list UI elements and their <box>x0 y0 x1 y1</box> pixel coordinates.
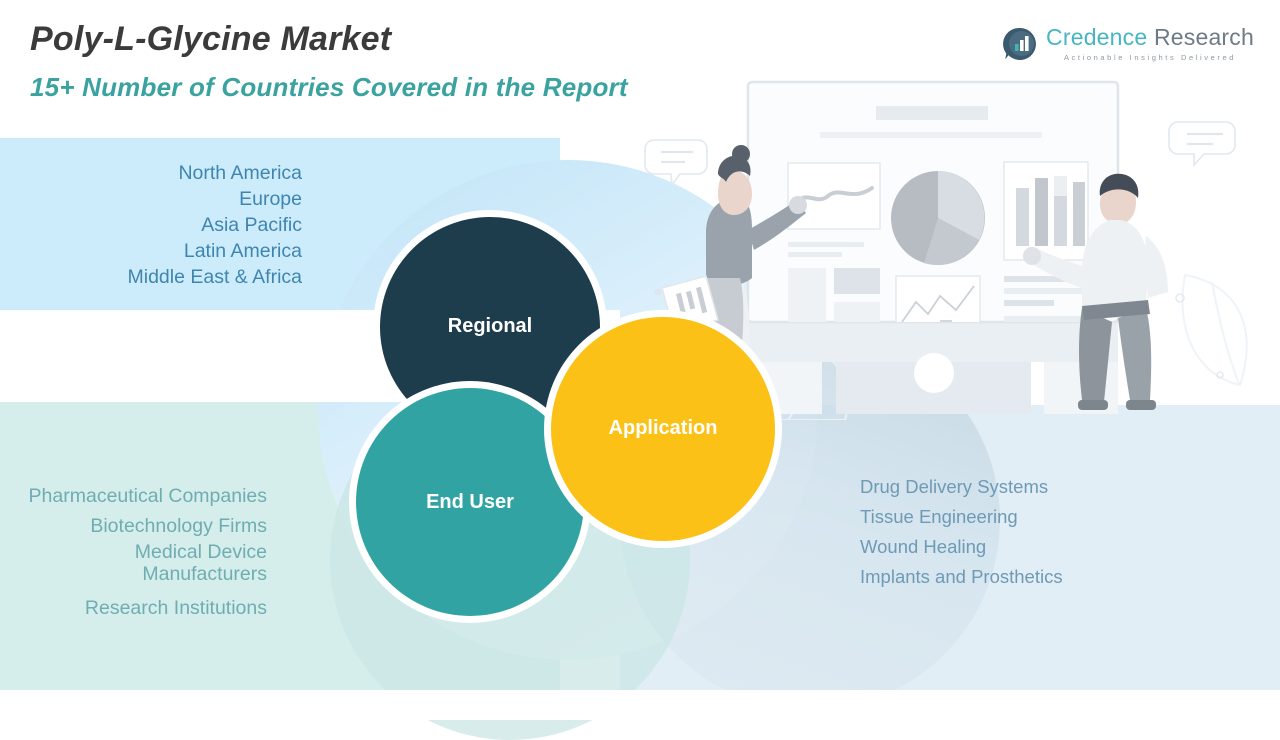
regional-list: North America Europe Asia Pacific Latin … <box>128 160 303 290</box>
list-item: Middle East & Africa <box>128 264 303 290</box>
page-subtitle: 15+ Number of Countries Covered in the R… <box>30 72 628 103</box>
brand-name-secondary: Research <box>1147 24 1254 50</box>
brand-name: Credence Research <box>1046 26 1254 49</box>
list-item: Pharmaceutical Companies <box>29 481 267 511</box>
list-item: Tissue Engineering <box>860 502 1063 532</box>
list-item: Research Institutions <box>29 585 267 623</box>
application-list: Drug Delivery Systems Tissue Engineering… <box>860 472 1063 592</box>
list-item: Manufacturers <box>29 563 267 585</box>
list-item: Wound Healing <box>860 532 1063 562</box>
list-item: Latin America <box>128 238 303 264</box>
bar-chart-circle-icon <box>1002 26 1038 62</box>
segment-bubble-application[interactable]: Application <box>551 317 775 541</box>
brand-name-primary: Credence <box>1046 24 1147 50</box>
end-user-list: Pharmaceutical Companies Biotechnology F… <box>29 481 267 623</box>
brand-logo[interactable]: Credence Research Actionable Insights De… <box>1002 26 1254 62</box>
list-item: Drug Delivery Systems <box>860 472 1063 502</box>
list-item: North America <box>128 160 303 186</box>
header: Poly-L-Glycine Market 15+ Number of Coun… <box>0 0 1280 138</box>
list-item: Asia Pacific <box>128 212 303 238</box>
list-item: Medical Device <box>29 541 267 563</box>
infographic-canvas: Poly-L-Glycine Market 15+ Number of Coun… <box>0 0 1280 720</box>
segment-bubble-end-user[interactable]: End User <box>356 388 584 616</box>
background-white-footer <box>0 690 1280 720</box>
page-title: Poly-L-Glycine Market <box>30 20 391 59</box>
brand-tagline: Actionable Insights Delivered <box>1046 54 1254 62</box>
list-item: Europe <box>128 186 303 212</box>
list-item: Biotechnology Firms <box>29 511 267 541</box>
list-item: Implants and Prosthetics <box>860 562 1063 592</box>
